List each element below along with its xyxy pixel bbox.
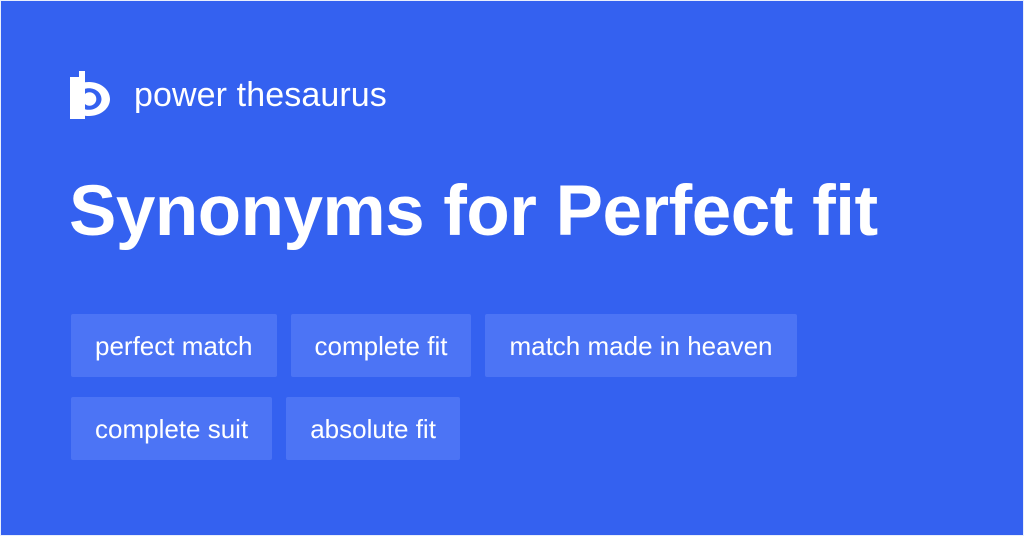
synonyms-card: power thesaurus Synonyms for Perfect fit… [0,0,1024,536]
page-title: Synonyms for Perfect fit [69,170,878,254]
synonym-chip[interactable]: perfect match [71,314,277,377]
power-thesaurus-b-logo-icon [70,71,112,119]
synonym-chip[interactable]: complete fit [291,314,472,377]
synonym-chip[interactable]: complete suit [71,397,272,460]
synonym-chip[interactable]: match made in heaven [485,314,796,377]
brand-logo[interactable]: power thesaurus [70,69,387,121]
synonym-chip[interactable]: absolute fit [286,397,460,460]
brand-name: power thesaurus [134,78,387,112]
synonym-chip-list: perfect match complete fit match made in… [71,314,951,460]
